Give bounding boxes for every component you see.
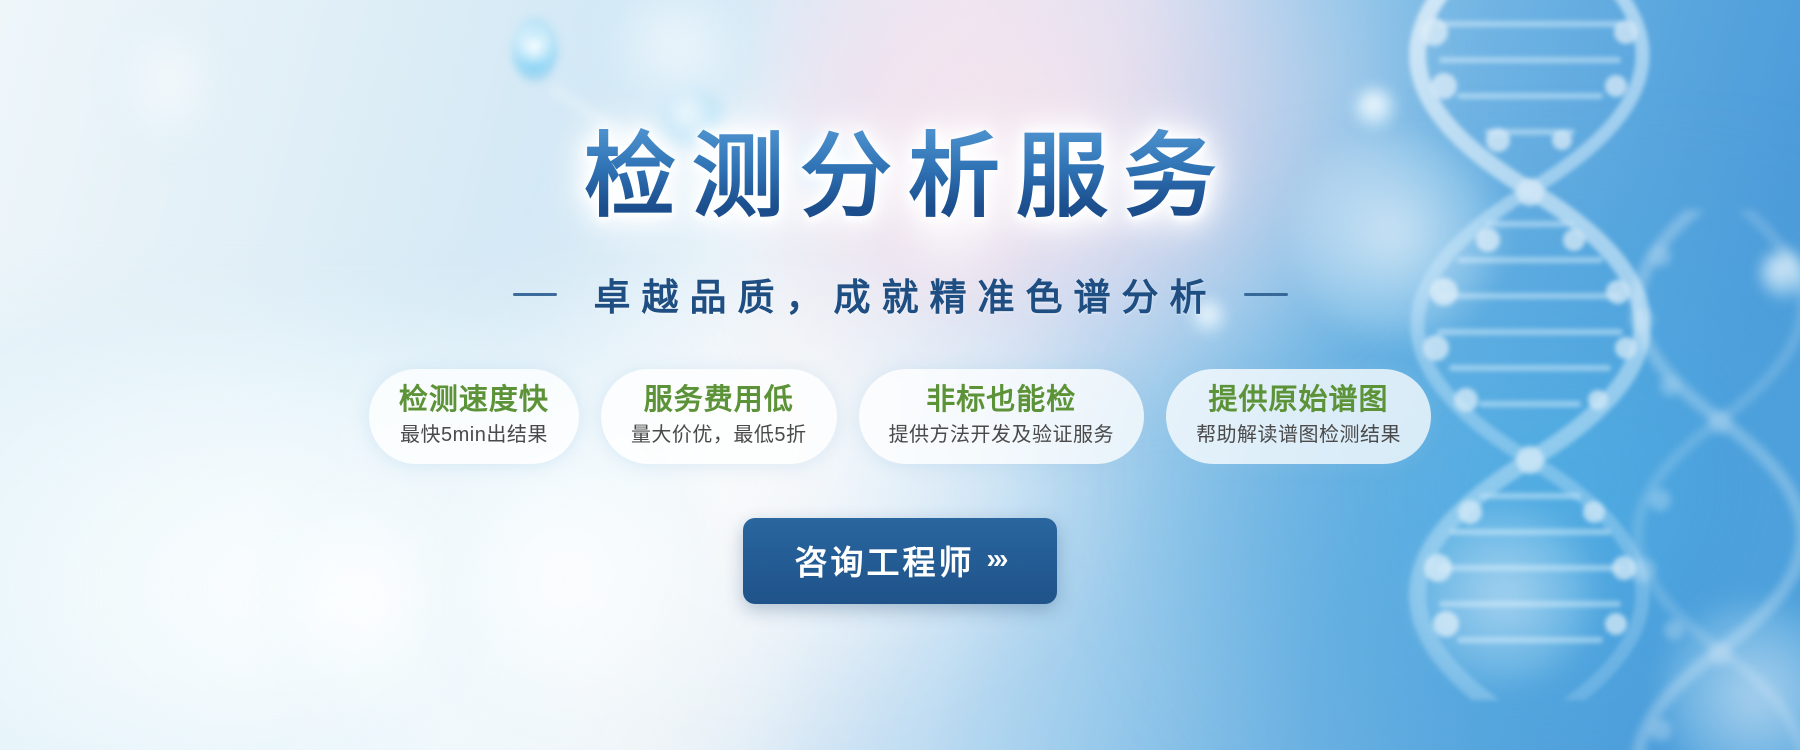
- cta-label: 咨询工程师: [795, 536, 975, 584]
- right-dash-divider: [1244, 293, 1288, 296]
- subtitle-row: 卓越品质，成就精准色谱分析: [513, 267, 1288, 321]
- left-dash-divider: [513, 293, 557, 296]
- feature-title: 服务费用低: [631, 383, 807, 418]
- page-subtitle: 卓越品质，成就精准色谱分析: [583, 267, 1218, 321]
- feature-pill-row: 检测速度快 最快5min出结果 服务费用低 量大价优，最低5折 非标也能检 提供…: [369, 369, 1431, 463]
- feature-desc: 量大价优，最低5折: [631, 423, 807, 448]
- feature-desc: 帮助解读谱图检测结果: [1196, 423, 1401, 448]
- feature-desc: 最快5min出结果: [399, 423, 549, 448]
- feature-title: 非标也能检: [889, 383, 1115, 418]
- detection-service-banner: 检测分析服务 卓越品质，成就精准色谱分析 检测速度快 最快5min出结果 服务费…: [0, 0, 1800, 750]
- feature-title: 提供原始谱图: [1196, 383, 1401, 418]
- chevron-right-triple-icon: ›››: [987, 543, 1006, 575]
- consult-engineer-button[interactable]: 咨询工程师 ›››: [743, 518, 1058, 604]
- feature-pill-nonstandard: 非标也能检 提供方法开发及验证服务: [859, 369, 1145, 463]
- page-title: 检测分析服务: [568, 128, 1232, 227]
- banner-content: 检测分析服务 卓越品质，成就精准色谱分析 检测速度快 最快5min出结果 服务费…: [0, 0, 1800, 750]
- feature-pill-rawspectra: 提供原始谱图 帮助解读谱图检测结果: [1166, 369, 1431, 463]
- feature-title: 检测速度快: [399, 383, 549, 418]
- feature-desc: 提供方法开发及验证服务: [889, 423, 1115, 448]
- feature-pill-speed: 检测速度快 最快5min出结果: [369, 369, 579, 463]
- feature-pill-price: 服务费用低 量大价优，最低5折: [601, 369, 837, 463]
